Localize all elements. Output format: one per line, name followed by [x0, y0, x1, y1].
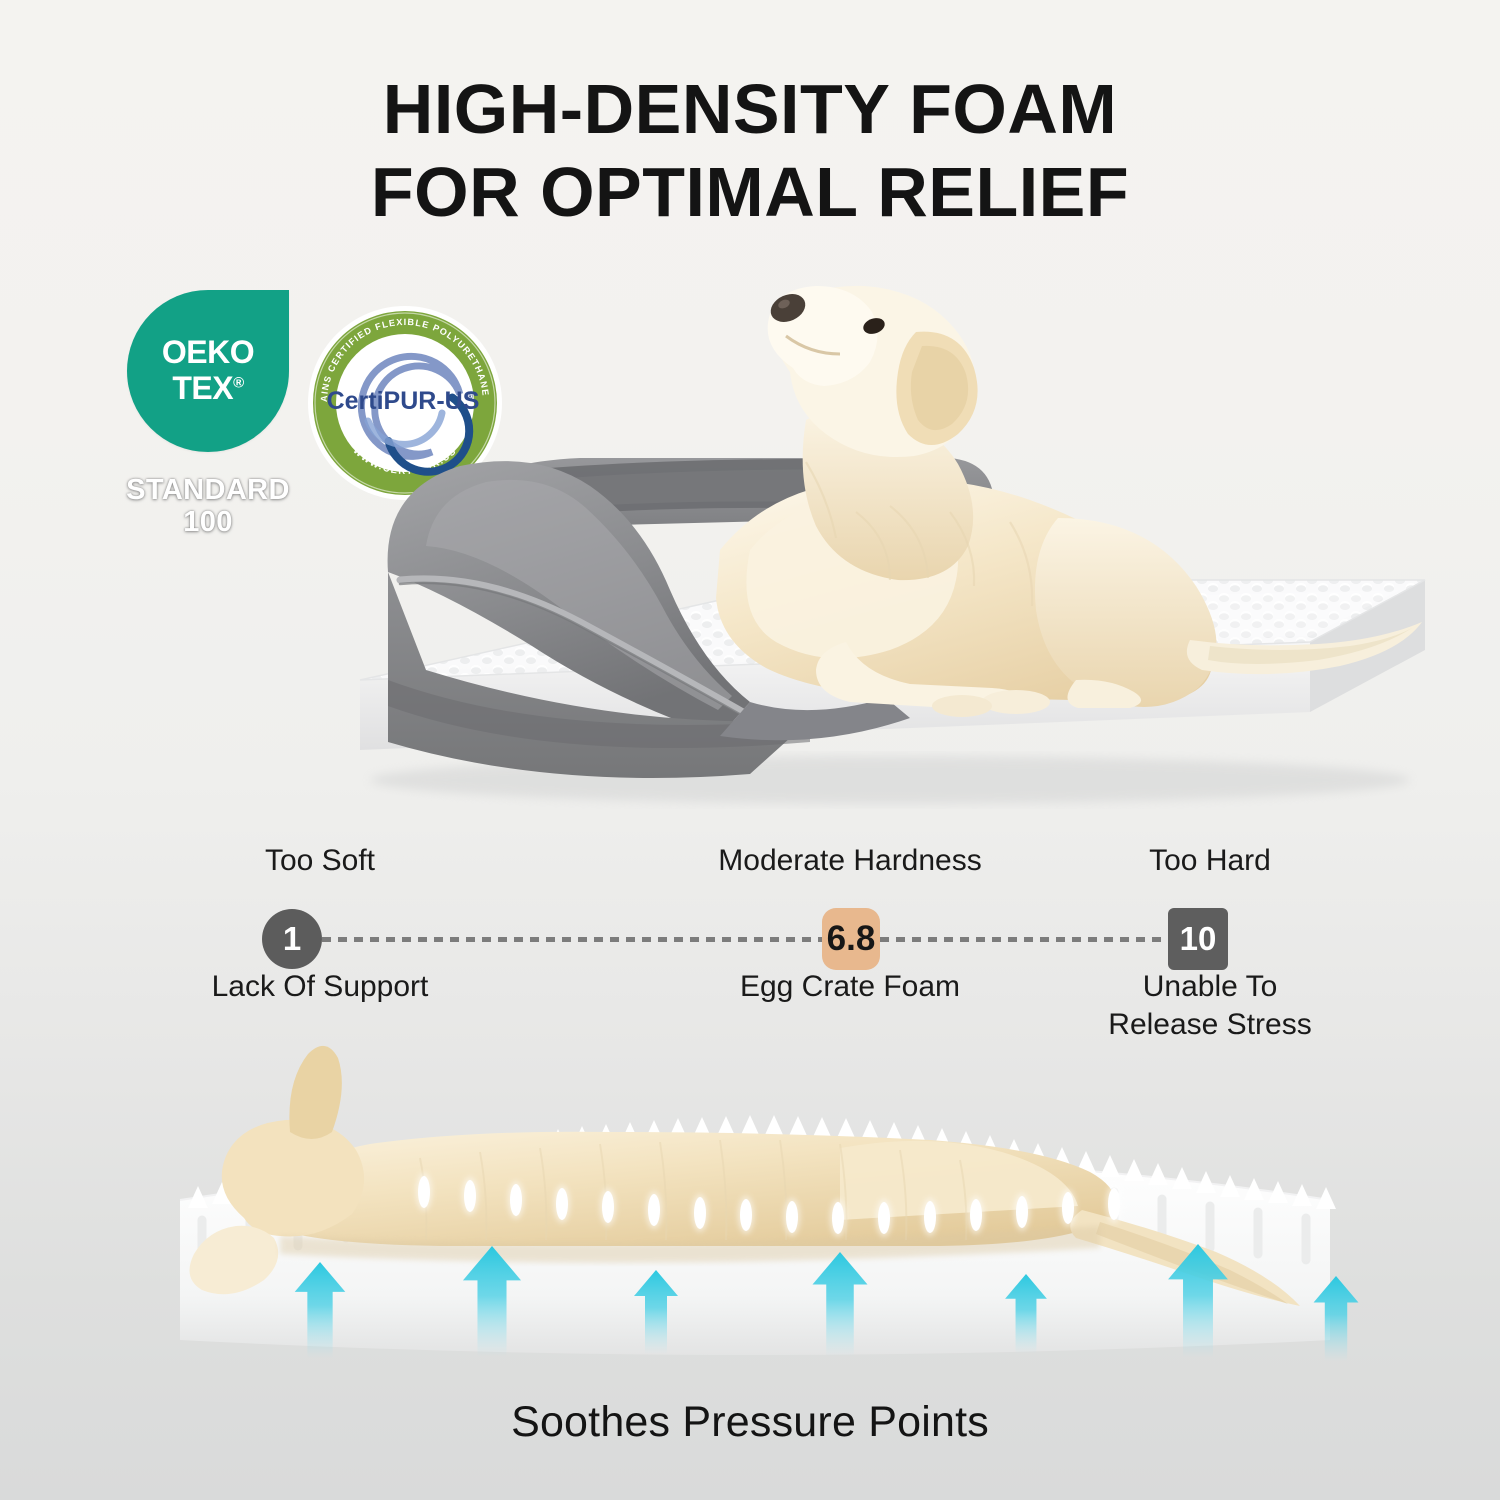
hardness-scale-track: 1 6.8 10: [0, 908, 1500, 970]
scale-sublabel-lack-of-support: Lack Of Support: [150, 968, 490, 1006]
footer-caption: Soothes Pressure Points: [0, 1398, 1500, 1447]
page-title-line-1: HIGH-DENSITY FOAM: [383, 70, 1117, 148]
scale-label-too-soft: Too Soft: [150, 842, 490, 880]
scale-sublabel-unable-to-release-stress: Unable To Release Stress: [1040, 968, 1380, 1045]
oeko-registered-mark: ®: [233, 374, 244, 391]
scale-value-max: 10: [1168, 908, 1228, 970]
page-title: HIGH-DENSITY FOAM FOR OPTIMAL RELIEF: [0, 68, 1500, 233]
oeko-standard-line-2: 100: [183, 506, 233, 538]
pressure-relief-image: [140, 1040, 1370, 1390]
scale-label-too-hard: Too Hard: [1040, 842, 1380, 880]
hardness-scale: Too Soft Moderate Hardness Too Hard 1 6.…: [0, 840, 1500, 1050]
scale-sublabel-3-line-1: Unable To: [1143, 970, 1278, 1003]
product-hero-image: [250, 250, 1430, 810]
scale-sublabel-3-line-2: Release Stress: [1108, 1008, 1311, 1041]
scale-value-current: 6.8: [822, 908, 880, 970]
scale-dashed-line-left: [322, 937, 822, 942]
scale-value-min: 1: [262, 909, 322, 969]
scale-sublabel-egg-crate-foam: Egg Crate Foam: [680, 968, 1020, 1006]
scale-dashed-line-right: [880, 937, 1168, 942]
oeko-label-line-2: TEX: [172, 370, 233, 406]
page-title-line-2: FOR OPTIMAL RELIEF: [0, 151, 1500, 234]
oeko-label-line-1: OEKO: [162, 334, 254, 370]
scale-label-moderate-hardness: Moderate Hardness: [680, 842, 1020, 880]
dog-illustration: [716, 286, 1422, 717]
